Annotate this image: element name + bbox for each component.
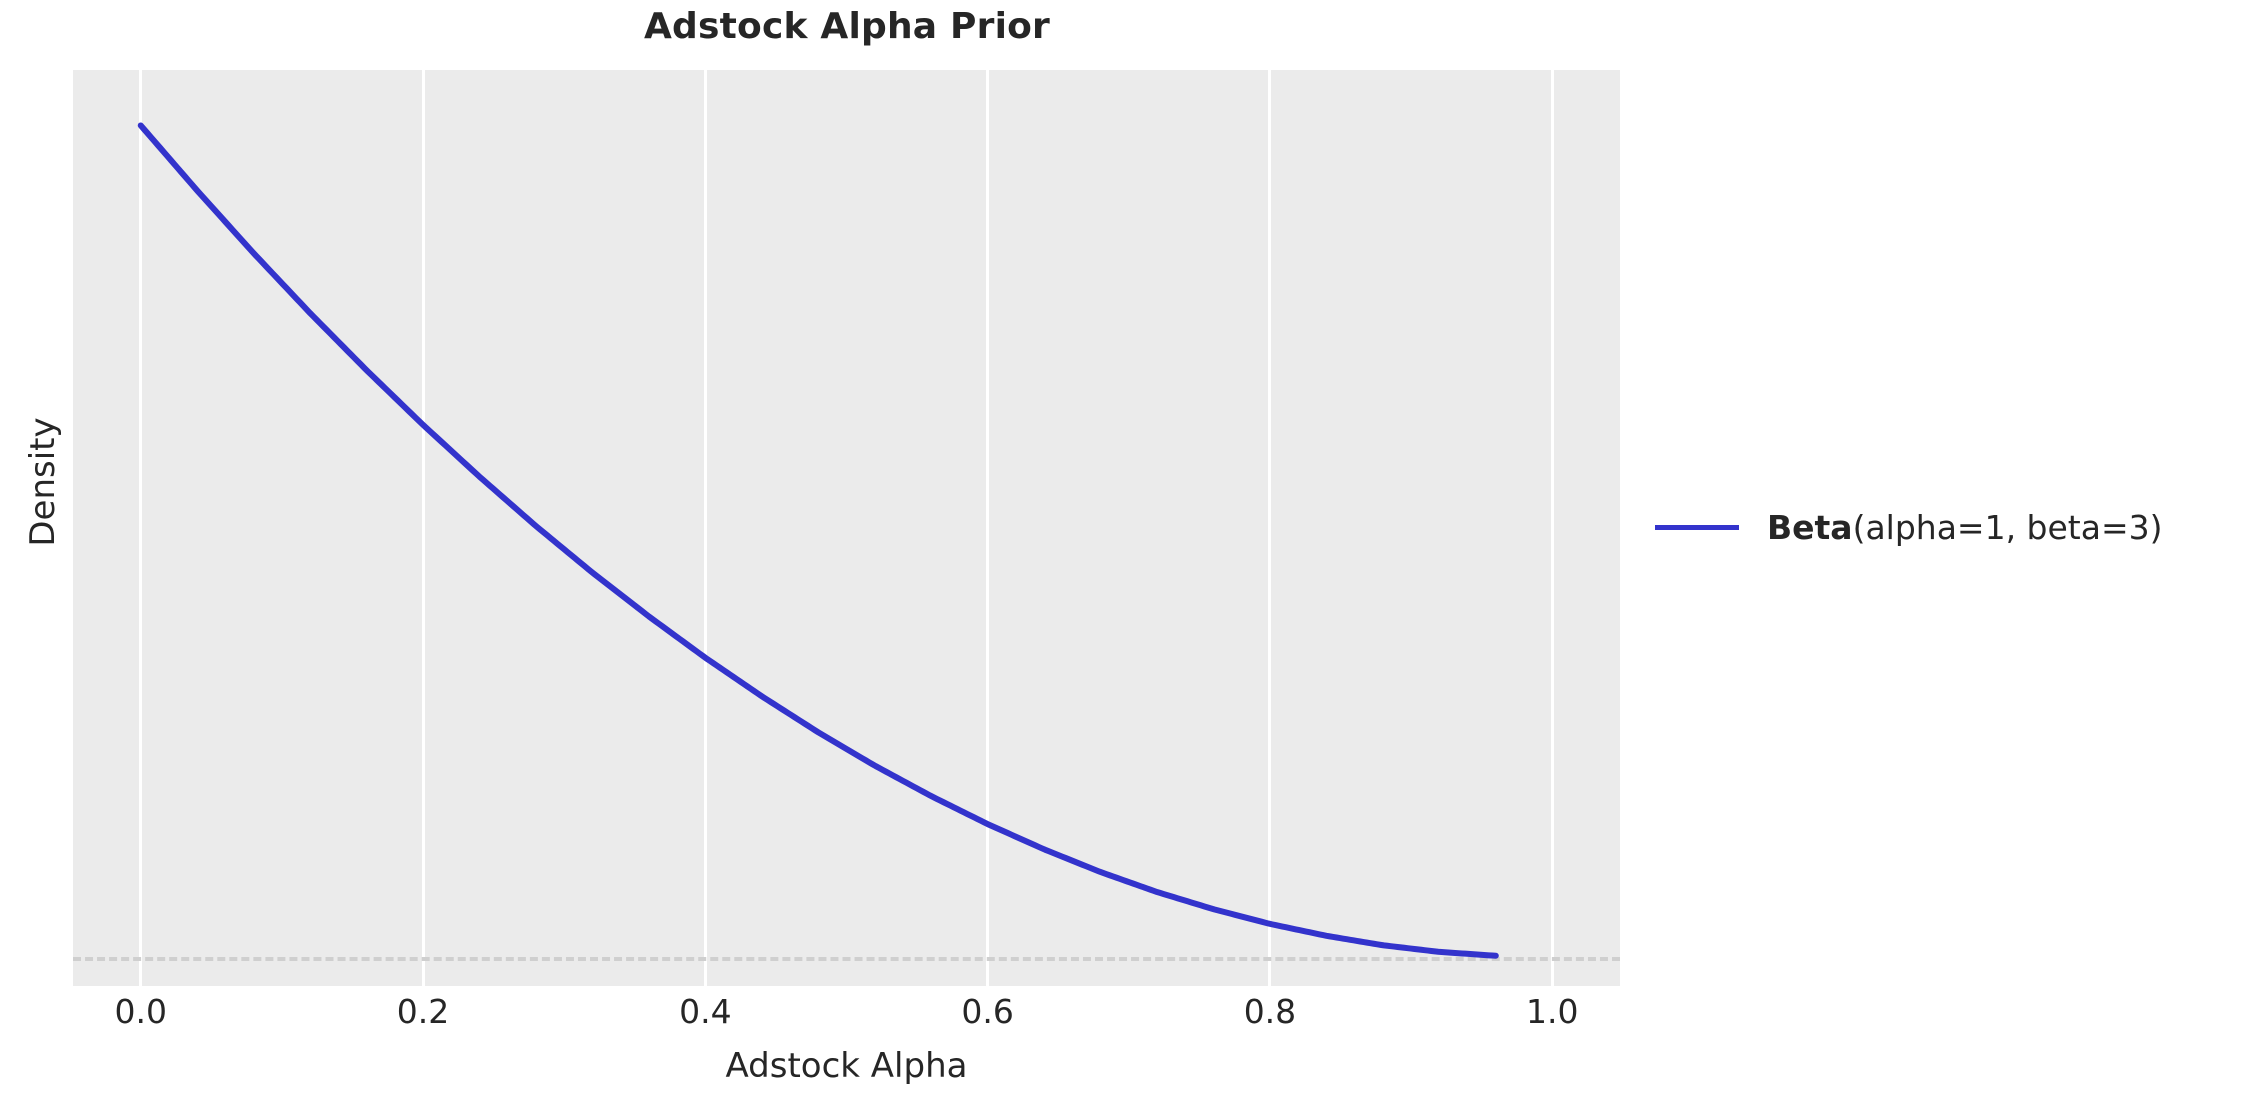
x-tick-label-0.6: 0.6 [928, 992, 1048, 1031]
chart-title: Adstock Alpha Prior [0, 6, 1694, 47]
x-tick-label-0.4: 0.4 [645, 992, 765, 1031]
legend-distribution-params: (alpha=1, beta=3) [1853, 508, 2163, 547]
x-tick-label-0.2: 0.2 [363, 992, 483, 1031]
legend-distribution-name: Beta [1767, 508, 1853, 547]
legend: Beta(alpha=1, beta=3) [1655, 508, 2163, 547]
legend-color-swatch-beta [1655, 525, 1739, 530]
x-axis-title: Adstock Alpha [73, 1046, 1620, 1086]
chart-figure: Adstock Alpha Prior 0.00.20.40.60.81.0 A… [0, 0, 2267, 1115]
x-tick-label-0.0: 0.0 [81, 992, 201, 1031]
density-curve-beta [141, 125, 1496, 955]
y-axis-title: Density [23, 357, 63, 607]
x-tick-label-0.8: 0.8 [1210, 992, 1330, 1031]
plot-area [73, 70, 1620, 986]
legend-entry-beta: Beta(alpha=1, beta=3) [1767, 508, 2163, 547]
x-tick-label-1.0: 1.0 [1492, 992, 1612, 1031]
curve-layer [73, 70, 1620, 986]
